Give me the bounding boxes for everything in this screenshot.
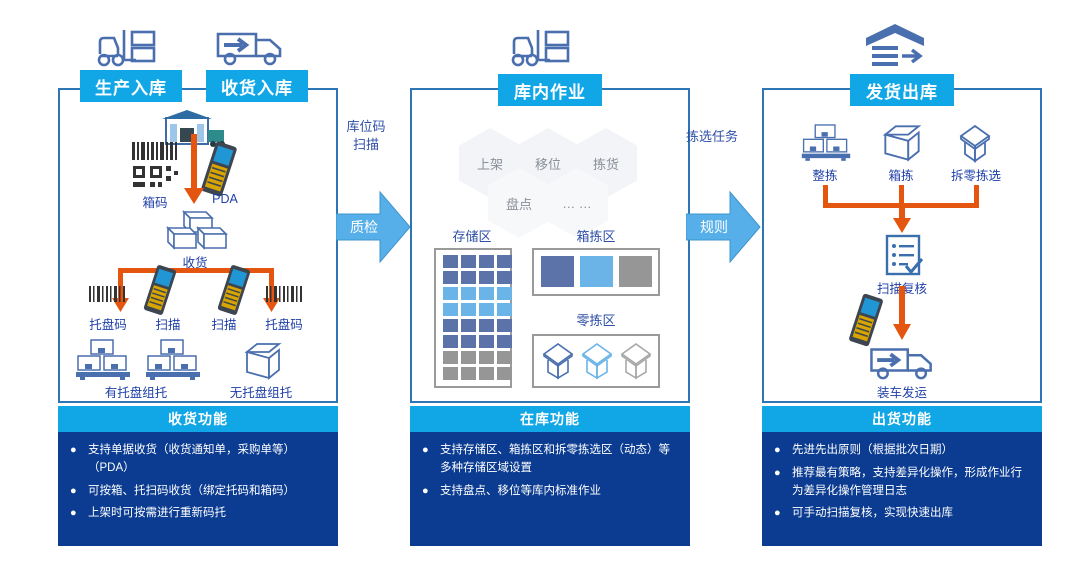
connector1-label-line1: 库位码 (346, 118, 385, 136)
list-item-text: 可按箱、托扫码收货（绑定托码和箱码） (88, 483, 328, 501)
storage-cell (479, 351, 494, 364)
storage-cell (497, 335, 512, 348)
case-swatch-3 (619, 256, 652, 287)
forklift-icon (92, 22, 164, 70)
storage-cell (443, 351, 458, 364)
list-item-text: 支持单据收货（收货通知单，采购单等）（PDA） (88, 442, 328, 478)
storage-cell (497, 351, 512, 364)
storage-cell (479, 271, 494, 284)
label-case-pick-zone: 箱拣区 (576, 226, 615, 245)
list-item-text: 可手动扫描复核，实现快速出库 (792, 505, 1032, 523)
forklift-icon (506, 22, 578, 70)
label-pallet-code-right: 托盘码 (265, 314, 303, 333)
connector1-arrow-text: 质检 (350, 217, 378, 237)
storage-cell (443, 319, 458, 332)
barcode-qr-icon (130, 140, 180, 188)
label-without-pallet: 无托盘组托 (230, 382, 293, 401)
bullet-dot: ● (70, 442, 88, 478)
open-box-icon (538, 340, 656, 382)
storage-cell (497, 255, 512, 268)
inbound-function-box: 收货功能 ● 支持单据收货（收货通知单，采购单等）（PDA） ● 可按箱、托扫码… (58, 406, 338, 546)
storage-cell (479, 367, 494, 380)
label-scan-right: 扫描 (211, 314, 236, 333)
list-item-text: 支持存储区、箱拣区和拆零拣选区（动态）等多种存储区域设置 (440, 442, 680, 478)
badge-production-inbound[interactable]: 生产入库 (80, 70, 182, 102)
list-item: ● 推荐最有策略，支持差异化操作，形成作业行为差异化操作管理日志 (774, 465, 1032, 501)
list-item: ● 支持盘点、移位等库内标准作业 (422, 483, 680, 501)
storage-cell (461, 287, 476, 300)
list-item-text: 先进先出原则（根据批次日期） (792, 442, 1032, 460)
truck-icon (864, 340, 940, 382)
list-item: ● 支持单据收货（收货通知单，采购单等）（PDA） (70, 442, 328, 478)
pda-icon (140, 263, 180, 317)
label-pda: PDA (212, 192, 238, 206)
label-loading-shipping: 装车发运 (877, 382, 927, 401)
list-item: ● 支持存储区、箱拣区和拆零拣选区（动态）等多种存储区域设置 (422, 442, 680, 478)
bullet-dot: ● (774, 465, 792, 501)
boxes-stack-icon (162, 210, 228, 252)
outbound-function-list: ● 先进先出原则（根据批次日期） ● 推荐最有策略，支持差异化操作，形成作业行为… (762, 432, 1042, 534)
list-item: ● 可按箱、托扫码收货（绑定托码和箱码） (70, 483, 328, 501)
bullet-dot: ● (70, 505, 88, 523)
storage-cell (443, 255, 458, 268)
storage-cell (479, 287, 494, 300)
storage-cell (461, 303, 476, 316)
connector2-arrow-text: 规则 (700, 217, 728, 237)
checklist-icon (878, 234, 926, 278)
storage-cell (461, 319, 476, 332)
bullet-dot: ● (774, 505, 792, 523)
label-piece-pick: 拆零拣选 (951, 165, 1001, 184)
instore-function-title: 在库功能 (410, 406, 690, 432)
pallet-boxes-icon (800, 122, 852, 162)
storage-cell (461, 351, 476, 364)
connector1-label-line2: 扫描 (353, 136, 379, 154)
bullet-dot: ● (774, 442, 792, 460)
closed-box-icon (877, 124, 927, 164)
arrow-down-icon (890, 206, 914, 234)
outbound-function-box: 出货功能 ● 先进先出原则（根据批次日期） ● 推荐最有策略，支持差异化操作，形… (762, 406, 1042, 546)
instore-function-list: ● 支持存储区、箱拣区和拆零拣选区（动态）等多种存储区域设置 ● 支持盘点、移位… (410, 432, 690, 511)
arrow-down-icon (181, 134, 207, 210)
badge-receiving-inbound[interactable]: 收货入库 (206, 70, 308, 102)
label-pallet-code-left: 托盘码 (89, 314, 127, 333)
storage-cell (497, 319, 512, 332)
storage-cell (479, 255, 494, 268)
case-swatch-1 (541, 256, 574, 287)
barcode-icon (265, 285, 305, 307)
diagram-canvas: 生产入库 收货入库 箱码 (0, 0, 1080, 570)
case-swatch-2 (580, 256, 613, 287)
label-scan-left: 扫描 (155, 314, 180, 333)
storage-grid (443, 255, 512, 380)
closed-box-icon (237, 342, 285, 380)
storage-cell (443, 271, 458, 284)
storage-cell (443, 367, 458, 380)
pallet-boxes-icon (144, 338, 202, 380)
outbound-function-title: 出货功能 (762, 406, 1042, 432)
badge-in-store-operation[interactable]: 库内作业 (498, 74, 602, 106)
storage-cell (497, 303, 512, 316)
bullet-dot: ● (70, 483, 88, 501)
open-box-icon (950, 122, 1000, 164)
list-item-text: 上架时可按需进行重新码托 (88, 505, 328, 523)
list-item: ● 先进先出原则（根据批次日期） (774, 442, 1032, 460)
bullet-dot: ● (422, 442, 440, 478)
list-item: ● 上架时可按需进行重新码托 (70, 505, 328, 523)
warehouse-out-icon (862, 20, 928, 72)
inbound-function-title: 收货功能 (58, 406, 338, 432)
barcode-icon (88, 285, 128, 307)
storage-cell (479, 335, 494, 348)
label-box-code: 箱码 (142, 192, 167, 211)
storage-cell (443, 303, 458, 316)
operation-hexagons: 上架 移位 拣货 盘点 … … (455, 120, 655, 230)
label-full-pallet-pick: 整拣 (812, 165, 837, 184)
storage-cell (443, 287, 458, 300)
storage-cell (479, 319, 494, 332)
pallet-boxes-icon (74, 338, 132, 380)
label-case-pick: 箱拣 (888, 165, 913, 184)
label-storage-zone: 存储区 (452, 226, 491, 245)
storage-cell (443, 335, 458, 348)
storage-cell (461, 335, 476, 348)
instore-function-box: 在库功能 ● 支持存储区、箱拣区和拆零拣选区（动态）等多种存储区域设置 ● 支持… (410, 406, 690, 546)
storage-cell (461, 271, 476, 284)
bullet-dot: ● (422, 483, 440, 501)
storage-cell (461, 255, 476, 268)
storage-cell (497, 367, 512, 380)
storage-cell (479, 303, 494, 316)
list-item-text: 支持盘点、移位等库内标准作业 (440, 483, 680, 501)
inbound-function-list: ● 支持单据收货（收货通知单，采购单等）（PDA） ● 可按箱、托扫码收货（绑定… (58, 432, 338, 534)
arrow-down-icon (890, 286, 914, 342)
label-with-pallet: 有托盘组托 (105, 382, 168, 401)
badge-outbound-shipping[interactable]: 发货出库 (850, 74, 954, 106)
list-item-text: 推荐最有策略，支持差异化操作，形成作业行为差异化操作管理日志 (792, 465, 1032, 501)
storage-cell (497, 271, 512, 284)
storage-cell (497, 287, 512, 300)
truck-icon (212, 24, 288, 68)
storage-cell (461, 367, 476, 380)
list-item: ● 可手动扫描复核，实现快速出库 (774, 505, 1032, 523)
pda-icon (214, 263, 254, 317)
label-piece-pick-zone: 零拣区 (576, 310, 615, 329)
connector2-label-line1: 拣选任务 (686, 128, 738, 146)
